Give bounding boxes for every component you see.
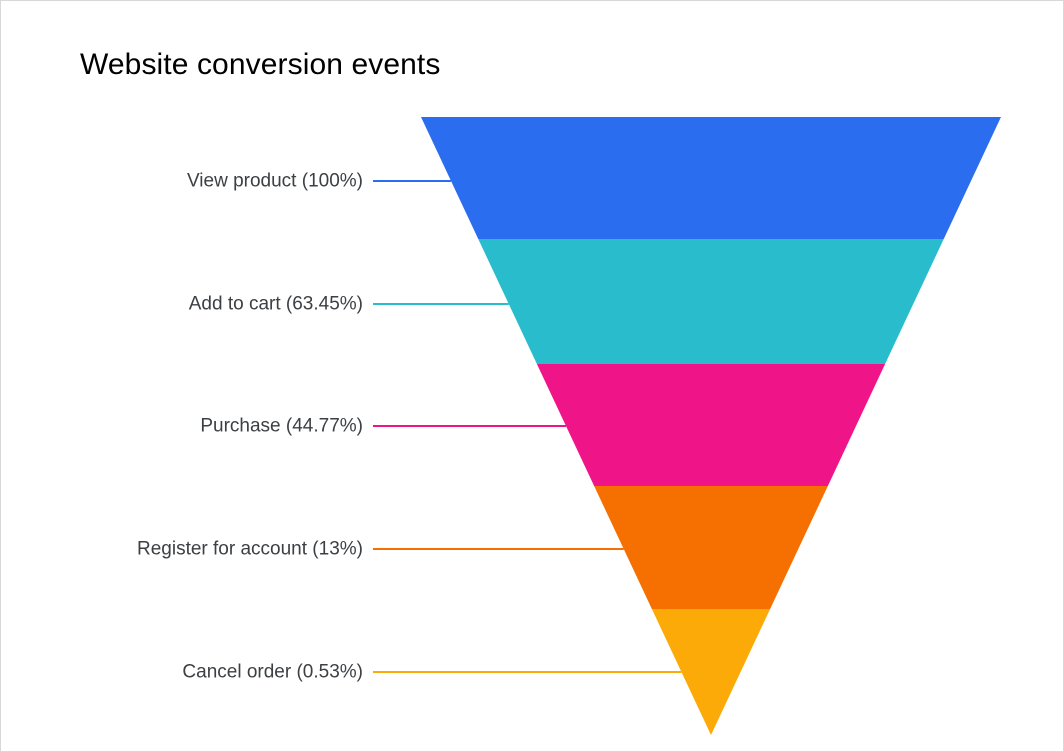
funnel-chart-canvas: Website conversion events View product (…	[0, 0, 1064, 752]
funnel-stage-label: Purchase (44.77%)	[200, 417, 363, 436]
funnel-band[interactable]	[478, 239, 944, 364]
funnel-band[interactable]	[537, 364, 885, 486]
funnel-band[interactable]	[594, 486, 828, 609]
funnel-stage-label: Add to cart (63.45%)	[189, 295, 363, 314]
funnel-band[interactable]	[421, 117, 1001, 239]
funnel-stage-label: View product (100%)	[187, 172, 363, 191]
funnel-stage-label: Register for account (13%)	[137, 540, 363, 559]
funnel-graphic	[1, 1, 1064, 752]
funnel-stage-label: Cancel order (0.53%)	[182, 663, 363, 682]
